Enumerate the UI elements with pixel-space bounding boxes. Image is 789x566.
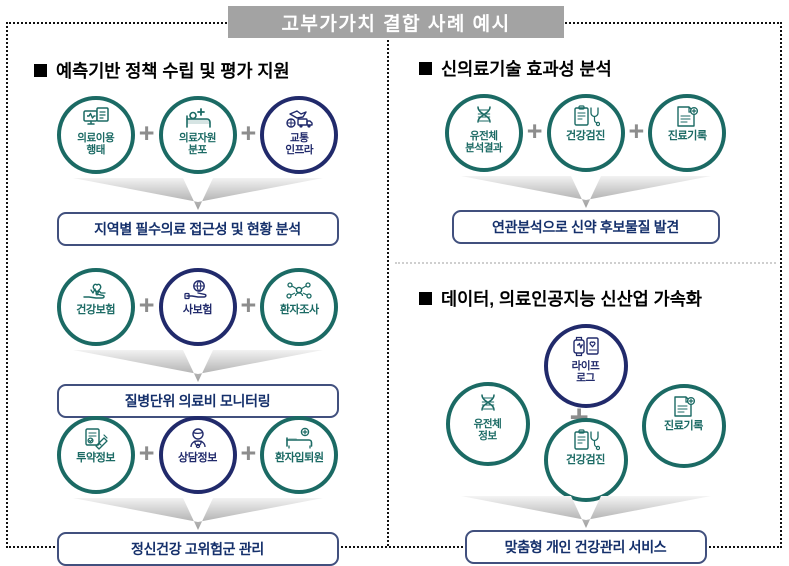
node-label-line1: 투약정보 (76, 453, 115, 465)
node-label-line1: 상담정보 (178, 453, 217, 465)
patient-bed-icon (284, 426, 314, 452)
right-column: 신의료기술 효과성 분석 유전체 분석결과 + (391, 24, 780, 546)
dna-icon (471, 104, 497, 130)
node-label-line1: 라이프 (572, 361, 600, 372)
section-heading-3-label: 데이터, 의료인공지능 신산업 가속화 (441, 286, 702, 311)
result-box-5: 맞춤형 개인 건강관리 서비스 (465, 530, 707, 564)
node-row-3: 투약정보 + 상담정보 + (8, 416, 387, 494)
plus-separator: + (241, 292, 257, 323)
heart-hand-icon (82, 278, 110, 304)
node-label-line2: 로그 (576, 373, 595, 384)
node-lifelog[interactable]: 라이프 로그 (544, 324, 628, 408)
node-diamond-cluster: 라이프 로그 유전체 정보 + (426, 322, 746, 502)
down-arrow-1 (73, 176, 323, 212)
right-section-1: 신의료기술 효과성 분석 유전체 분석결과 + (391, 24, 780, 262)
node-label-line1: 유전체 (470, 131, 498, 142)
node-label-line1: 건강보험 (76, 305, 115, 317)
square-bullet-icon (34, 64, 47, 77)
square-bullet-icon (419, 62, 432, 75)
stethoscope-clipboard-icon (572, 104, 600, 130)
hospital-bed-icon (184, 106, 212, 132)
node-label-line2: 행태 (86, 145, 105, 156)
node-label-line2: 분석결과 (465, 143, 502, 154)
node-transport-infrastructure[interactable]: 교통 인프라 (260, 96, 338, 174)
node-medical-resource-distribution[interactable]: 의료자원 분포 (159, 96, 237, 174)
dna-icon (475, 392, 501, 418)
section-heading-3: 데이터, 의료인공지능 신산업 가속화 (419, 286, 702, 311)
plus-separator: + (241, 120, 257, 151)
down-arrow-2 (73, 348, 323, 384)
node-health-insurance[interactable]: 건강보험 (57, 268, 135, 346)
node-label-line1: 의료자원 (179, 133, 216, 144)
node-label-line1: 진료기록 (664, 421, 703, 433)
node-row-1: 의료이용 행태 + 의료자원 분포 (8, 96, 387, 174)
result-box-3: 정신건강 고위험군 관리 (57, 532, 339, 566)
section-heading-1-label: 예측기반 정책 수립 및 평가 지원 (56, 58, 290, 83)
people-network-icon (285, 278, 313, 304)
plus-separator: + (241, 440, 257, 471)
flow-group-2: 건강보험 + 사보험 + (8, 268, 387, 418)
monitor-chart-icon (83, 106, 109, 132)
node-medical-record[interactable]: 진료기록 (642, 384, 726, 468)
node-label-line1: 교통 (290, 133, 309, 144)
node-medication-info[interactable]: 투약정보 (57, 416, 135, 494)
result-box-1: 지역별 필수의료 접근성 및 현황 분석 (57, 212, 339, 246)
node-medical-record[interactable]: 진료기록 (648, 94, 726, 172)
node-label-line2: 분포 (188, 145, 207, 156)
node-label-line1: 의료이용 (77, 133, 114, 144)
node-genome-analysis-result[interactable]: 유전체 분석결과 (445, 94, 523, 172)
transport-icon (284, 106, 314, 132)
node-private-insurance[interactable]: 사보험 (159, 268, 237, 346)
down-arrow-3 (73, 496, 323, 532)
syringe-clipboard-icon (82, 426, 110, 452)
node-row-2: 건강보험 + 사보험 + (8, 268, 387, 346)
node-patient-survey[interactable]: 환자조사 (260, 268, 338, 346)
node-label-line1: 진료기록 (668, 131, 707, 143)
plus-separator: + (629, 118, 645, 149)
flow-group-4: 유전체 분석결과 + (391, 94, 780, 244)
node-row-4: 유전체 분석결과 + (391, 94, 780, 172)
node-patient-admission-discharge[interactable]: 환자입퇴원 (260, 416, 338, 494)
section-heading-2-label: 신의료기술 효과성 분석 (441, 56, 612, 81)
section-heading-1: 예측기반 정책 수립 및 평가 지원 (34, 58, 290, 83)
flow-group-5: 라이프 로그 유전체 정보 + (391, 322, 780, 564)
node-label-line1: 건강검진 (566, 455, 605, 467)
right-section-2: 데이터, 의료인공지능 신산업 가속화 (391, 264, 780, 546)
node-label-line1: 환자조사 (280, 305, 319, 317)
node-genome-info[interactable]: 유전체 정보 (446, 382, 530, 466)
down-arrow-5 (461, 494, 711, 530)
node-label-line1: 건강검진 (566, 131, 605, 143)
stethoscope-clipboard-icon (572, 428, 600, 454)
plus-separator: + (139, 292, 155, 323)
plus-separator: + (139, 440, 155, 471)
node-label-line1: 유전체 (474, 419, 502, 430)
section-heading-2: 신의료기술 효과성 분석 (419, 56, 612, 81)
result-box-4: 연관분석으로 신약 후보물질 발견 (452, 210, 720, 244)
node-counseling-info[interactable]: 상담정보 (159, 416, 237, 494)
doctor-icon (185, 426, 211, 452)
page-title: 고부가가치 결합 사례 예시 (281, 9, 510, 36)
node-label-line1: 사보험 (183, 305, 212, 317)
page-title-banner: 고부가가치 결합 사례 예시 (228, 6, 564, 38)
smartwatch-icon (571, 334, 601, 360)
content-columns: 예측기반 정책 수립 및 평가 지원 의료이용 행 (8, 24, 780, 546)
result-box-2: 질병단위 의료비 모니터링 (57, 384, 339, 418)
node-label-line2: 인프라 (285, 145, 313, 156)
node-label-line1: 환자입퇴원 (275, 453, 324, 465)
node-health-checkup[interactable]: 건강검진 (544, 418, 628, 502)
node-medical-use-behavior[interactable]: 의료이용 행태 (57, 96, 135, 174)
node-label-line2: 정보 (478, 431, 497, 442)
node-health-checkup[interactable]: 건강검진 (547, 94, 625, 172)
square-bullet-icon (419, 292, 432, 305)
plus-separator: + (527, 118, 543, 149)
down-arrow-4 (461, 174, 711, 210)
left-column: 예측기반 정책 수립 및 평가 지원 의료이용 행 (8, 24, 387, 546)
flow-group-3: 투약정보 + 상담정보 + (8, 416, 387, 566)
globe-hand-icon (184, 278, 212, 304)
plus-separator: + (139, 120, 155, 151)
flow-group-1: 의료이용 행태 + 의료자원 분포 (8, 96, 387, 246)
document-icon (671, 394, 697, 420)
document-icon (674, 104, 700, 130)
